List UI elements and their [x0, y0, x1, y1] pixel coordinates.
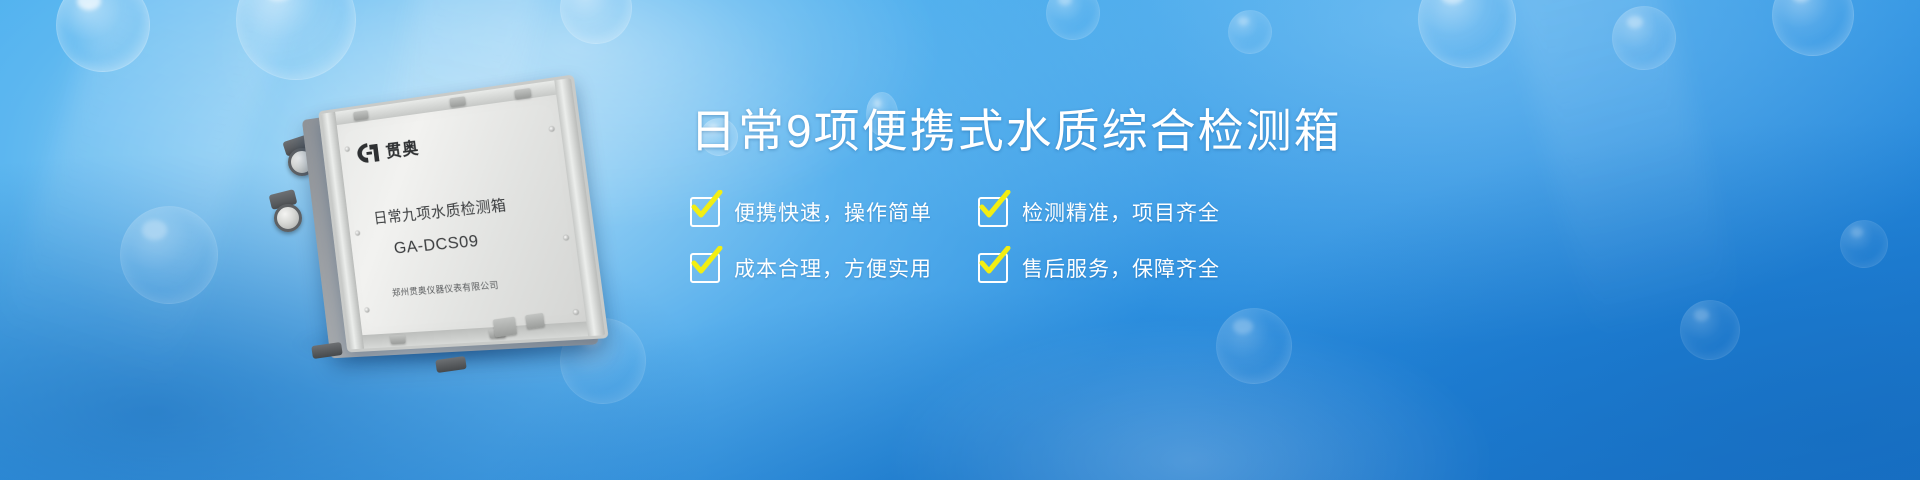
- check-box-icon: [978, 253, 1008, 283]
- feature-label: 成本合理，方便实用: [734, 253, 932, 283]
- product-company-name: 郑州贯奥仪器仪表有限公司: [391, 278, 499, 299]
- feature-label: 便携快速，操作简单: [734, 197, 932, 227]
- caster-wheel-icon: [274, 204, 302, 232]
- case-foot: [435, 356, 467, 373]
- product-hero-banner: 贯奥 日常九项水质检测箱 GA-DCS09 郑州贯奥仪器仪表有限公司 日常9项便…: [0, 0, 1920, 480]
- lid-screw: [573, 309, 579, 315]
- lid-screw: [365, 307, 370, 312]
- feature-item: 售后服务，保障齐全: [978, 253, 1266, 283]
- brand-logo-text: 贯奥: [384, 134, 420, 162]
- case-side-latch: [525, 313, 545, 329]
- feature-label: 检测精准，项目齐全: [1022, 197, 1220, 227]
- case-side-latch: [493, 317, 517, 338]
- lid-rail-right: [554, 78, 605, 336]
- feature-item: 成本合理，方便实用: [690, 253, 978, 283]
- banner-headline: 日常9项便携式水质综合检测箱: [690, 104, 1650, 159]
- banner-copy: 日常9项便携式水质综合检测箱 便携快速，操作简单 检测精准，项目齐全: [690, 104, 1650, 283]
- check-box-icon: [690, 253, 720, 283]
- bubble-decoration-icon: [120, 206, 218, 304]
- bubble-decoration-icon: [1840, 220, 1888, 268]
- check-box-icon: [978, 197, 1008, 227]
- bubble-decoration-icon: [1228, 10, 1272, 54]
- product-brand-logo: 贯奥: [355, 134, 420, 166]
- product-model-code: GA-DCS09: [393, 231, 480, 258]
- feature-label: 售后服务，保障齐全: [1022, 253, 1220, 283]
- bubble-decoration-icon: [1680, 300, 1740, 360]
- feature-list: 便携快速，操作简单 检测精准，项目齐全 成本合理，方便实用: [690, 197, 1650, 283]
- check-box-icon: [690, 197, 720, 227]
- lid-screw: [563, 235, 569, 241]
- bubble-decoration-icon: [1612, 6, 1676, 70]
- product-model-name: 日常九项水质检测箱: [372, 194, 507, 228]
- ga-monogram-icon: [355, 140, 381, 164]
- lid-screw: [549, 126, 555, 132]
- lid-screw: [345, 147, 350, 152]
- lid-clasp: [390, 335, 406, 345]
- feature-item: 检测精准，项目齐全: [978, 197, 1266, 227]
- product-image: 贯奥 日常九项水质检测箱 GA-DCS09 郑州贯奥仪器仪表有限公司: [268, 86, 628, 386]
- feature-item: 便携快速，操作简单: [690, 197, 978, 227]
- lid-screw: [355, 231, 360, 236]
- bubble-decoration-icon: [1216, 308, 1292, 384]
- product-case-lid: 贯奥 日常九项水质检测箱 GA-DCS09 郑州贯奥仪器仪表有限公司: [318, 74, 609, 352]
